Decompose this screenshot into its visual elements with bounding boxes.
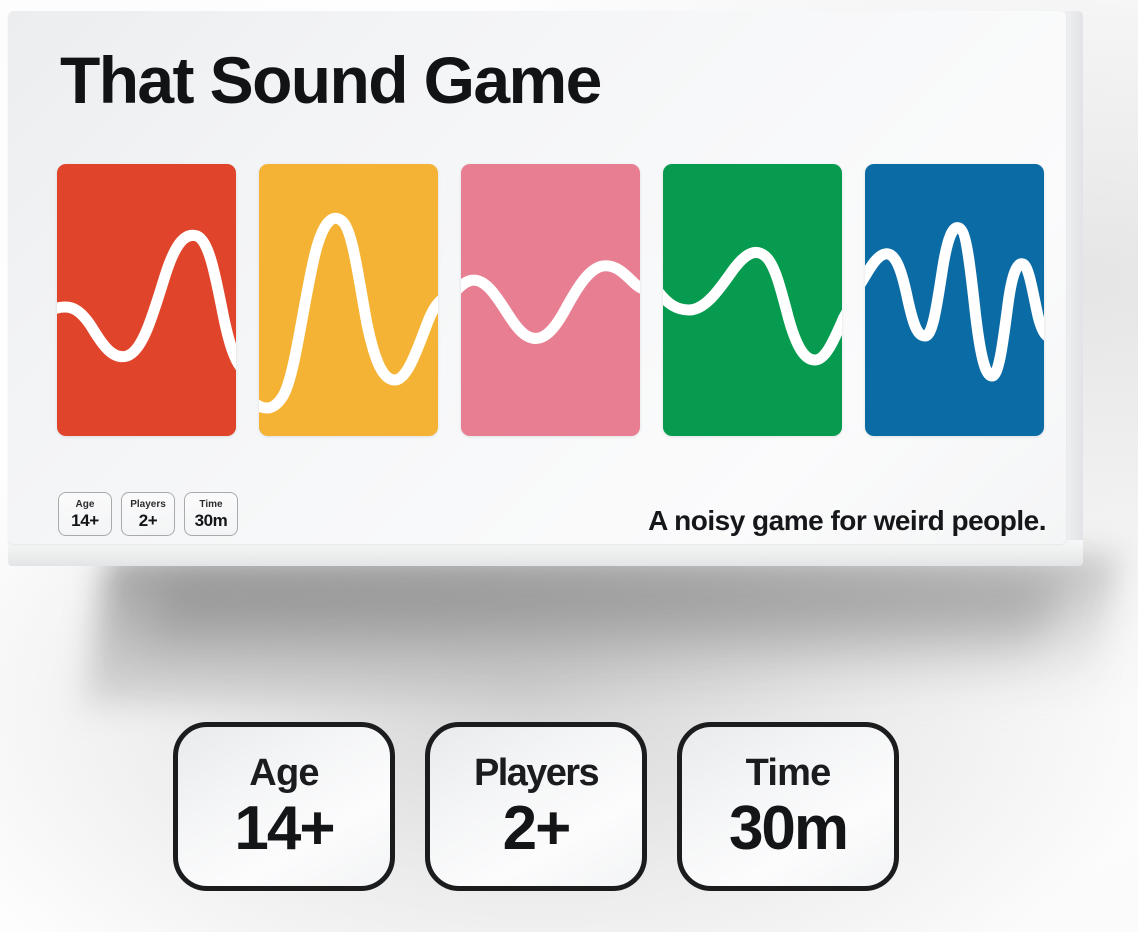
callout-spec-players-value: 2+ <box>503 798 570 860</box>
game-box: That Sound Game <box>8 11 1083 566</box>
callout-spec-time-value: 30m <box>729 798 847 860</box>
box-drop-shadow-soft <box>140 580 1059 670</box>
waveform-green-icon <box>663 164 842 436</box>
callout-spec-players-label: Players <box>474 754 598 792</box>
page-title: That Sound Game <box>60 47 601 113</box>
callout-spec-time: Time 30m <box>677 722 899 891</box>
box-spec-age-label: Age <box>76 500 95 510</box>
callout-spec-age: Age 14+ <box>173 722 395 891</box>
box-front-face: That Sound Game <box>8 11 1066 544</box>
sound-card-strip <box>57 164 1045 436</box>
sound-card-pink <box>461 164 640 436</box>
waveform-yellow-icon <box>259 164 438 436</box>
callout-spec-age-value: 14+ <box>234 798 333 860</box>
waveform-pink-icon <box>461 164 640 436</box>
box-spec-time: Time 30m <box>184 492 238 536</box>
box-spec-age-value: 14+ <box>71 512 99 529</box>
box-spec-players-label: Players <box>130 500 166 510</box>
sound-card-red <box>57 164 236 436</box>
callout-spec-age-label: Age <box>249 754 318 792</box>
box-spec-time-value: 30m <box>195 512 228 529</box>
sound-card-yellow <box>259 164 438 436</box>
waveform-blue-icon <box>865 164 1044 436</box>
tagline: A noisy game for weird people. <box>648 505 1046 537</box>
box-spec-badges: Age 14+ Players 2+ Time 30m <box>58 492 238 536</box>
box-spec-time-label: Time <box>199 500 222 510</box>
box-spec-age: Age 14+ <box>58 492 112 536</box>
callout-spec-time-label: Time <box>746 754 831 792</box>
callout-spec-badges: Age 14+ Players 2+ Time 30m <box>173 722 899 891</box>
box-spec-players-value: 2+ <box>139 512 158 529</box>
sound-card-blue <box>865 164 1044 436</box>
box-spec-players: Players 2+ <box>121 492 175 536</box>
callout-spec-players: Players 2+ <box>425 722 647 891</box>
sound-card-green <box>663 164 842 436</box>
waveform-red-icon <box>57 164 236 436</box>
